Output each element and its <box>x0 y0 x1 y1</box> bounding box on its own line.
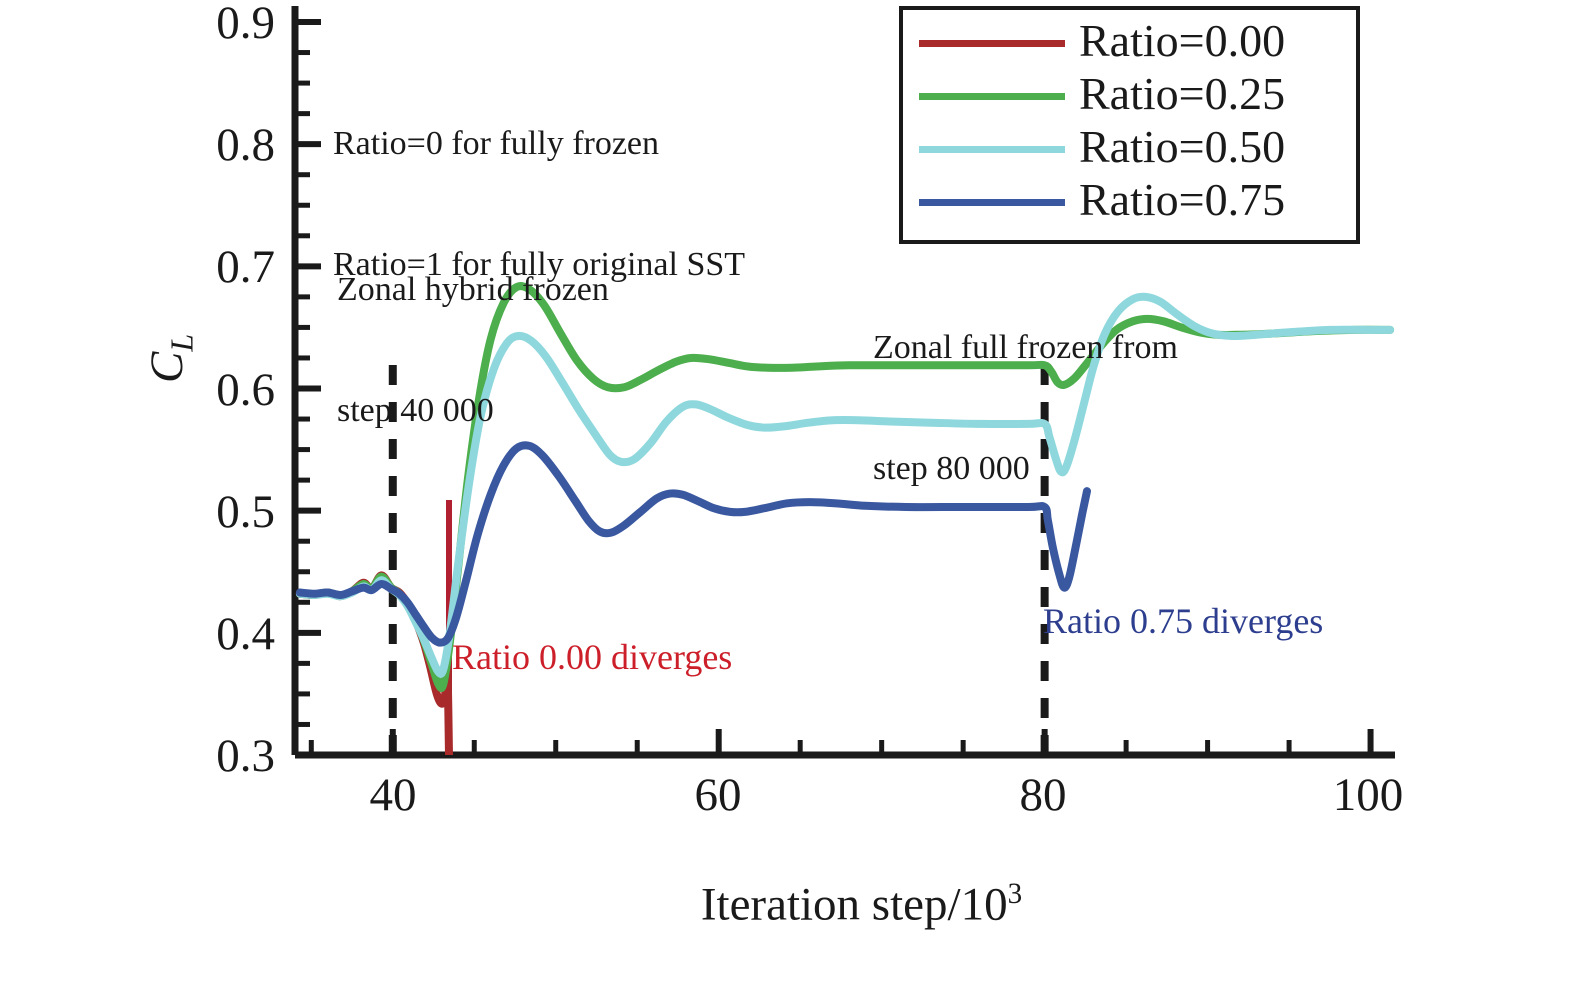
legend-label-ratio-050: Ratio=0.50 <box>1079 124 1285 170</box>
y-tick-label-4: 0.5 <box>155 485 275 540</box>
annotation-zonal-full-frozen-line2: step 80 000 <box>873 449 1178 489</box>
y-tick-label-5: 0.4 <box>155 607 275 662</box>
legend-item-ratio-025[interactable]: Ratio=0.25 <box>903 70 1356 123</box>
chart-figure: 0.9 0.8 0.7 0.6 0.5 0.4 0.3 40 60 80 100… <box>0 0 1575 896</box>
annotation-ratio-definition-line1: Ratio=0 for fully frozen <box>333 124 745 164</box>
legend-item-ratio-050[interactable]: Ratio=0.50 <box>903 123 1356 176</box>
x-tick-label-0: 40 <box>313 768 473 823</box>
legend-label-ratio-075: Ratio=0.75 <box>1079 177 1285 223</box>
legend: Ratio=0.00 Ratio=0.25 Ratio=0.50 Ratio=0… <box>899 6 1360 244</box>
y-tick-label-1: 0.8 <box>155 118 275 173</box>
annotation-ratio-075-diverges: Ratio 0.75 diverges <box>1043 600 1323 642</box>
annotation-zonal-hybrid-frozen-line1: Zonal hybrid frozen <box>337 270 609 310</box>
x-axis-title: Iteration step/103 <box>578 822 1098 989</box>
y-tick-label-6: 0.3 <box>155 729 275 784</box>
annotation-zonal-full-frozen: Zonal full frozen from step 80 000 <box>873 248 1178 569</box>
annotation-zonal-full-frozen-line1: Zonal full frozen from <box>873 328 1178 368</box>
annotation-ratio-000-diverges: Ratio 0.00 diverges <box>452 636 732 678</box>
x-axis-title-main: Iteration step/10 <box>701 879 1008 931</box>
x-axis-title-exponent: 3 <box>1008 878 1023 910</box>
legend-item-ratio-075[interactable]: Ratio=0.75 <box>903 176 1356 229</box>
legend-label-ratio-025: Ratio=0.25 <box>1079 71 1285 117</box>
legend-item-ratio-000[interactable]: Ratio=0.00 <box>903 17 1356 70</box>
y-axis-title-sub: L <box>165 334 200 352</box>
x-tick-label-3: 100 <box>1288 768 1448 823</box>
annotation-zonal-hybrid-frozen-line2: step 40 000 <box>337 391 609 431</box>
legend-swatch-ratio-050 <box>919 146 1065 153</box>
legend-swatch-ratio-075 <box>919 199 1065 206</box>
legend-swatch-ratio-025 <box>919 93 1065 100</box>
series-line-ratio-0-00 <box>300 575 449 755</box>
annotation-zonal-hybrid-frozen: Zonal hybrid frozen step 40 000 <box>337 190 609 511</box>
y-axis-title: CL <box>85 334 257 430</box>
y-tick-label-0: 0.9 <box>155 0 275 51</box>
x-tick-label-2: 80 <box>963 768 1123 823</box>
legend-swatch-ratio-000 <box>919 40 1065 47</box>
y-axis-title-main: C <box>141 352 193 383</box>
legend-label-ratio-000: Ratio=0.00 <box>1079 18 1285 64</box>
x-tick-label-1: 60 <box>638 768 798 823</box>
y-tick-label-2: 0.7 <box>155 240 275 295</box>
